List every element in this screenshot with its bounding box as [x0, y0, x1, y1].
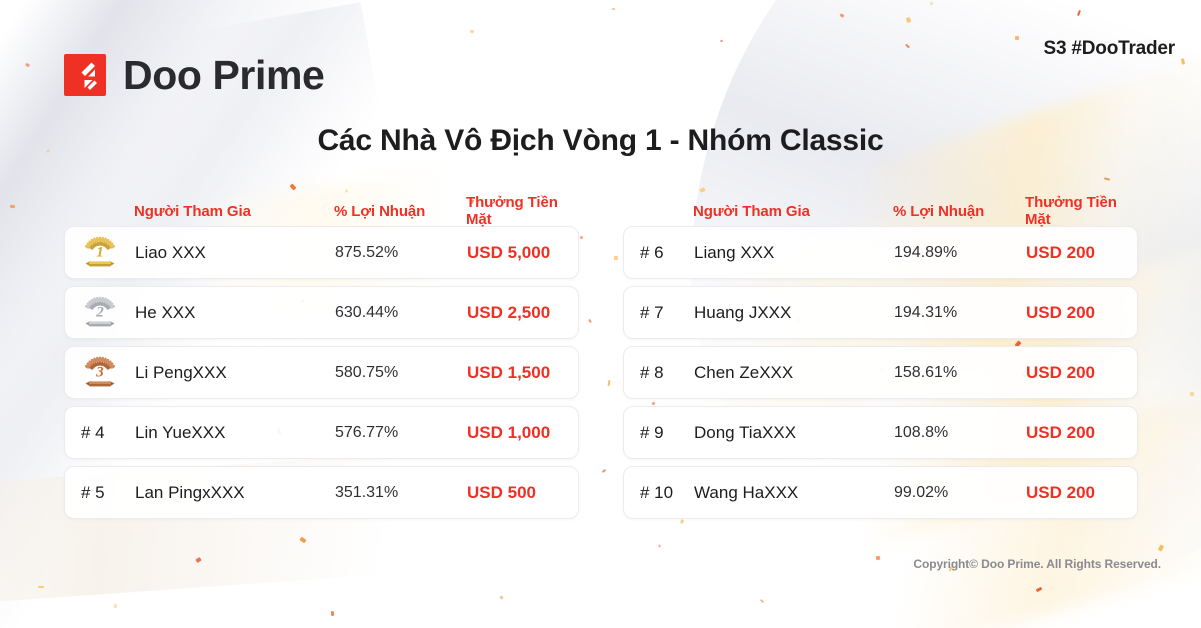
table-row[interactable]: 2 He XXX630.44%USD 2,500 — [64, 286, 579, 339]
rank-label: # 5 — [81, 483, 135, 503]
participant-name: Liang XXX — [694, 243, 894, 263]
header-prize-right: Thưởng Tiền Mặt — [1025, 194, 1122, 228]
table-header-right: Người Tham Gia % Lợi Nhuận Thưởng Tiền M… — [623, 196, 1138, 226]
copyright-notice: Copyright© Doo Prime. All Rights Reserve… — [913, 557, 1161, 571]
cash-prize-amount: USD 500 — [467, 483, 562, 503]
gold-medal-icon: 1 — [81, 234, 135, 272]
profit-percentage: 99.02% — [894, 484, 1026, 502]
header-participant-right: Người Tham Gia — [693, 203, 893, 220]
participant-name: Dong TiaXXX — [694, 423, 894, 443]
table-row[interactable]: # 5Lan PingxXXX351.31%USD 500 — [64, 466, 579, 519]
table-row[interactable]: # 7Huang JXXX194.31%USD 200 — [623, 286, 1138, 339]
profit-percentage: 158.61% — [894, 364, 1026, 382]
header-profit-left: % Lợi Nhuận — [334, 203, 466, 220]
table-row[interactable]: # 8Chen ZeXXX158.61%USD 200 — [623, 346, 1138, 399]
rank-label: # 6 — [640, 243, 694, 263]
cash-prize-amount: USD 200 — [1026, 303, 1121, 323]
table-row[interactable]: 3 Li PengXXX580.75%USD 1,500 — [64, 346, 579, 399]
page-title: Các Nhà Vô Địch Vòng 1 - Nhóm Classic — [0, 124, 1201, 158]
leaderboard-tables: Người Tham Gia % Lợi Nhuận Thưởng Tiền M… — [0, 196, 1201, 526]
cash-prize-amount: USD 1,500 — [467, 363, 562, 383]
table-row[interactable]: 1 Liao XXX875.52%USD 5,000 — [64, 226, 579, 279]
cash-prize-amount: USD 200 — [1026, 363, 1121, 383]
profit-percentage: 194.89% — [894, 244, 1026, 262]
participant-name: Wang HaXXX — [694, 483, 894, 503]
participant-name: Liao XXX — [135, 243, 335, 263]
silver-medal-icon: 2 — [81, 294, 135, 332]
profit-percentage: 580.75% — [335, 364, 467, 382]
table-body-left: 1 Liao XXX875.52%USD 5,000 2 He XXX630.4… — [64, 226, 579, 519]
svg-text:3: 3 — [95, 364, 104, 380]
participant-name: Li PengXXX — [135, 363, 335, 383]
table-row[interactable]: # 6Liang XXX194.89%USD 200 — [623, 226, 1138, 279]
header-profit-right: % Lợi Nhuận — [893, 203, 1025, 220]
table-row[interactable]: # 4Lin YueXXX576.77%USD 1,000 — [64, 406, 579, 459]
participant-name: Lin YueXXX — [135, 423, 335, 443]
participant-name: He XXX — [135, 303, 335, 323]
table-body-right: # 6Liang XXX194.89%USD 200# 7Huang JXXX1… — [623, 226, 1138, 519]
participant-name: Chen ZeXXX — [694, 363, 894, 383]
profit-percentage: 576.77% — [335, 424, 467, 442]
poster-content: Doo Prime S3 #DooTrader Các Nhà Vô Địch … — [0, 0, 1201, 628]
rank-label: # 7 — [640, 303, 694, 323]
cash-prize-amount: USD 1,000 — [467, 423, 562, 443]
svg-text:1: 1 — [96, 244, 104, 260]
season-hashtag: S3 #DooTrader — [1043, 38, 1175, 60]
bronze-medal-icon: 3 — [81, 354, 135, 392]
table-header-left: Người Tham Gia % Lợi Nhuận Thưởng Tiền M… — [64, 196, 579, 226]
rank-label: # 4 — [81, 423, 135, 443]
leaderboard-left: Người Tham Gia % Lợi Nhuận Thưởng Tiền M… — [64, 196, 579, 526]
profit-percentage: 108.8% — [894, 424, 1026, 442]
rank-label: # 10 — [640, 483, 694, 503]
cash-prize-amount: USD 200 — [1026, 483, 1121, 503]
table-row[interactable]: # 9Dong TiaXXX108.8%USD 200 — [623, 406, 1138, 459]
cash-prize-amount: USD 200 — [1026, 243, 1121, 263]
header-participant-left: Người Tham Gia — [134, 203, 334, 220]
doo-prime-logo-mark-icon — [64, 54, 106, 96]
profit-percentage: 630.44% — [335, 304, 467, 322]
profit-percentage: 875.52% — [335, 244, 467, 262]
table-row[interactable]: # 10Wang HaXXX99.02%USD 200 — [623, 466, 1138, 519]
brand-logo: Doo Prime — [64, 54, 324, 96]
rank-label: # 8 — [640, 363, 694, 383]
cash-prize-amount: USD 5,000 — [467, 243, 562, 263]
leaderboard-right: Người Tham Gia % Lợi Nhuận Thưởng Tiền M… — [623, 196, 1138, 526]
profit-percentage: 194.31% — [894, 304, 1026, 322]
brand-name: Doo Prime — [123, 55, 324, 96]
header-prize-left: Thưởng Tiền Mặt — [466, 194, 563, 228]
rank-label: # 9 — [640, 423, 694, 443]
participant-name: Lan PingxXXX — [135, 483, 335, 503]
cash-prize-amount: USD 2,500 — [467, 303, 562, 323]
cash-prize-amount: USD 200 — [1026, 423, 1121, 443]
participant-name: Huang JXXX — [694, 303, 894, 323]
profit-percentage: 351.31% — [335, 484, 467, 502]
svg-text:2: 2 — [95, 304, 104, 320]
